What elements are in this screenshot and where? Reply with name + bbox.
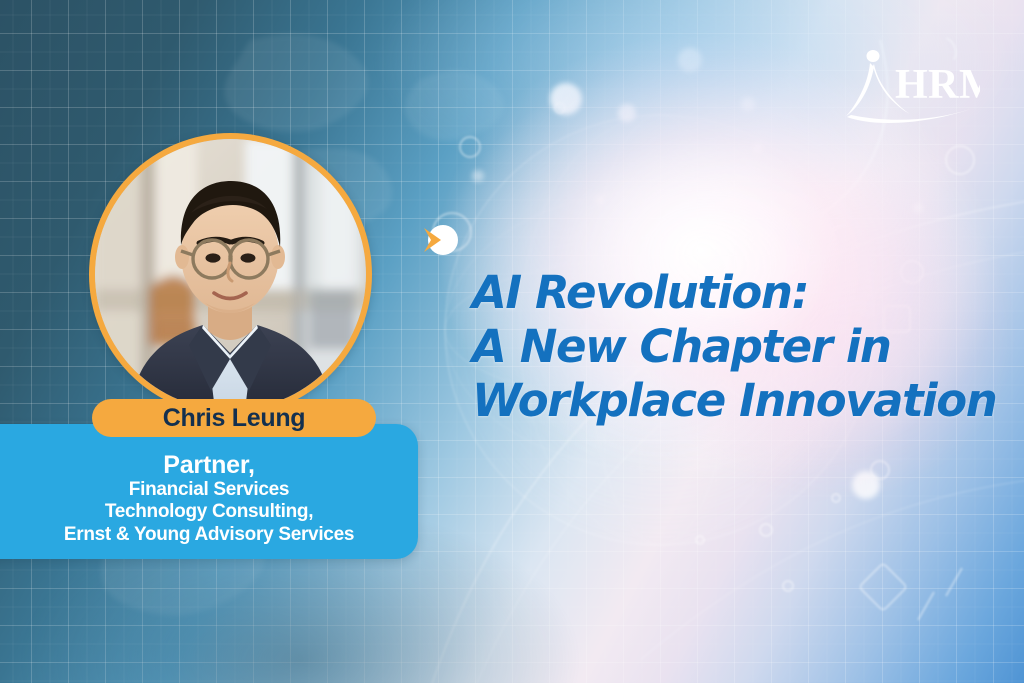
avatar	[95, 139, 366, 410]
speaker-name-badge: Chris Leung	[92, 399, 376, 437]
title-line-1: AI Revolution:	[472, 266, 1012, 320]
speaker-role-line-1: Financial Services	[129, 479, 289, 501]
webinar-banner: HRM	[0, 0, 1024, 683]
speaker-info-card: Partner, Financial Services Technology C…	[0, 424, 418, 559]
speaker-role-primary: Partner,	[163, 451, 255, 479]
speaker-role-line-2: Technology Consulting,	[105, 501, 313, 523]
speaker-role-line-3: Ernst & Young Advisory Services	[64, 524, 354, 546]
page-title: AI Revolution: A New Chapter in Workplac…	[472, 266, 1012, 428]
title-line-3: Workplace Innovation	[472, 374, 1012, 428]
title-line-2: A New Chapter in	[472, 320, 1012, 374]
speaker-name: Chris Leung	[163, 406, 306, 431]
hrm-logo-text: HRM	[895, 62, 980, 108]
speaker-avatar-ring	[89, 133, 372, 416]
chevron-right-icon	[419, 219, 461, 261]
speaker-photo	[95, 139, 366, 410]
hrm-logo[interactable]: HRM	[845, 47, 980, 125]
